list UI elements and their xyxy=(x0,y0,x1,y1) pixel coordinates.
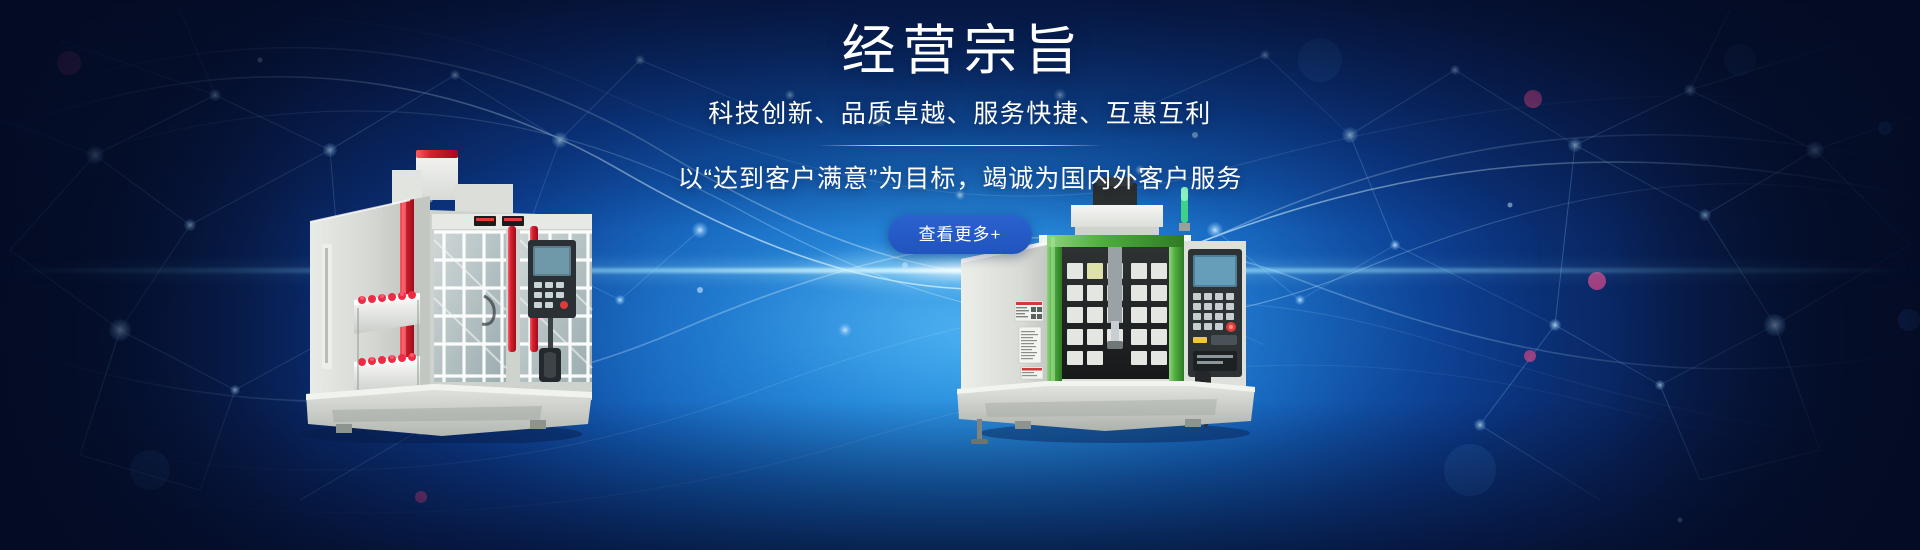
cta-wrapper: 查看更多+ xyxy=(0,215,1920,254)
promo-banner: 经营宗旨 科技创新、品质卓越、服务快捷、互惠互利 以“达到客户满意”为目标，竭诚… xyxy=(0,0,1920,550)
banner-copy: 经营宗旨 科技创新、品质卓越、服务快捷、互惠互利 以“达到客户满意”为目标，竭诚… xyxy=(0,22,1920,254)
view-more-button[interactable]: 查看更多+ xyxy=(888,215,1033,254)
page-title: 经营宗旨 xyxy=(0,22,1920,80)
banner-subtitle: 科技创新、品质卓越、服务快捷、互惠互利 xyxy=(0,94,1920,130)
divider xyxy=(821,145,1099,146)
banner-tagline: 以“达到客户满意”为目标，竭诚为国内外客户服务 xyxy=(0,159,1920,195)
